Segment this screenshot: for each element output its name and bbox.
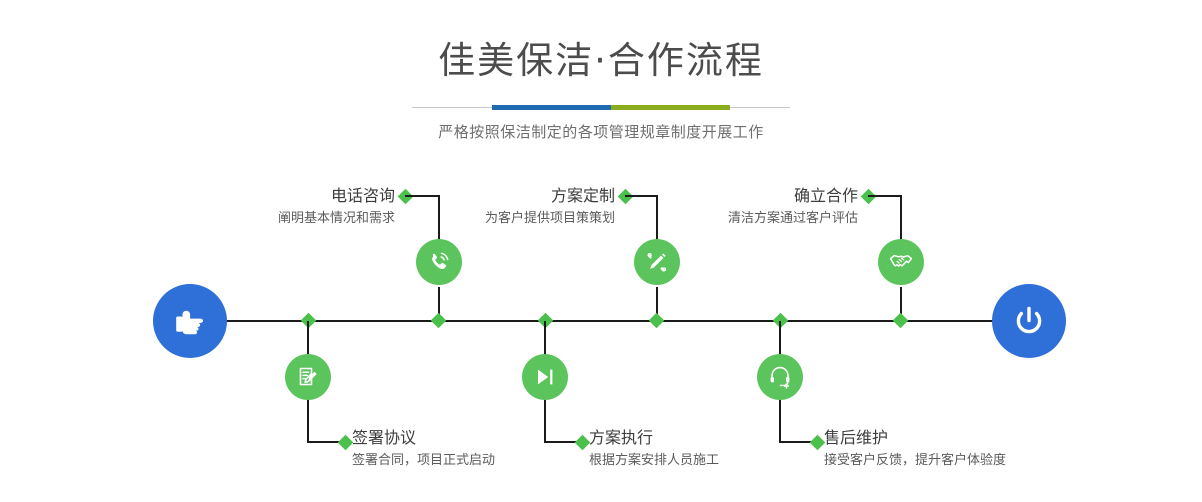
step-desc-4: 根据方案安排人员施工 [589, 451, 719, 471]
flow-diagram-page: 佳美保洁·合作流程 严格按照保洁制定的各项管理规章制度开展工作 [0, 0, 1202, 502]
step-title-3: 方案定制 [425, 186, 615, 206]
step-label-1: 电话咨询 阐明基本情况和需求 [205, 186, 395, 229]
process-timeline: 电话咨询 阐明基本情况和需求 [0, 0, 1202, 502]
step-connector-h-3 [625, 195, 658, 197]
step-connector-v-4a [544, 321, 546, 355]
step-label-4: 方案执行 根据方案安排人员施工 [589, 428, 719, 471]
step-title-4: 方案执行 [589, 428, 719, 448]
step-marker-label-4 [575, 435, 591, 451]
pencil-ruler-icon [644, 249, 670, 275]
document-edit-icon [295, 364, 321, 390]
step-desc-3: 为客户提供项目策策划 [425, 209, 615, 229]
step-connector-v-6b [779, 400, 781, 443]
step-node-3 [634, 239, 680, 285]
step-connector-v-2b [307, 400, 309, 443]
handshake-icon [888, 249, 914, 275]
step-label-3: 方案定制 为客户提供项目策策划 [425, 186, 615, 229]
step-desc-1: 阐明基本情况和需求 [205, 209, 395, 229]
step-desc-2: 签署合同，项目正式启动 [352, 451, 495, 471]
step-marker-label-6 [810, 435, 826, 451]
play-execute-icon [532, 364, 558, 390]
step-label-5: 确立合作 清洁方案通过客户评估 [665, 186, 858, 229]
step-label-6: 售后维护 接受客户反馈，提升客户体验度 [824, 428, 1006, 471]
step-desc-6: 接受客户反馈，提升客户体验度 [824, 451, 1006, 471]
timeline-start-endpoint [153, 284, 227, 358]
timeline-end-endpoint [992, 284, 1066, 358]
step-marker-axis-1 [431, 313, 447, 329]
step-marker-label-2 [338, 435, 354, 451]
phone-call-icon [426, 249, 452, 275]
pointing-hand-icon [170, 301, 210, 341]
step-connector-v-6a [779, 321, 781, 355]
step-connector-h-5 [868, 195, 902, 197]
step-node-5 [878, 239, 924, 285]
step-node-2 [285, 354, 331, 400]
step-node-1 [416, 239, 462, 285]
step-connector-v-2a [307, 321, 309, 355]
step-title-6: 售后维护 [824, 428, 1006, 448]
step-title-5: 确立合作 [665, 186, 858, 206]
step-connector-v-3a [656, 195, 658, 240]
step-marker-axis-3 [649, 313, 665, 329]
step-title-1: 电话咨询 [205, 186, 395, 206]
headset-support-icon [767, 364, 793, 390]
step-connector-v-5a [900, 195, 902, 240]
power-icon [1009, 301, 1049, 341]
step-label-2: 签署协议 签署合同，项目正式启动 [352, 428, 495, 471]
step-marker-axis-5 [893, 313, 909, 329]
step-desc-5: 清洁方案通过客户评估 [665, 209, 858, 229]
step-title-2: 签署协议 [352, 428, 495, 448]
step-node-6 [757, 354, 803, 400]
step-node-4 [522, 354, 568, 400]
step-connector-v-4b [544, 400, 546, 443]
